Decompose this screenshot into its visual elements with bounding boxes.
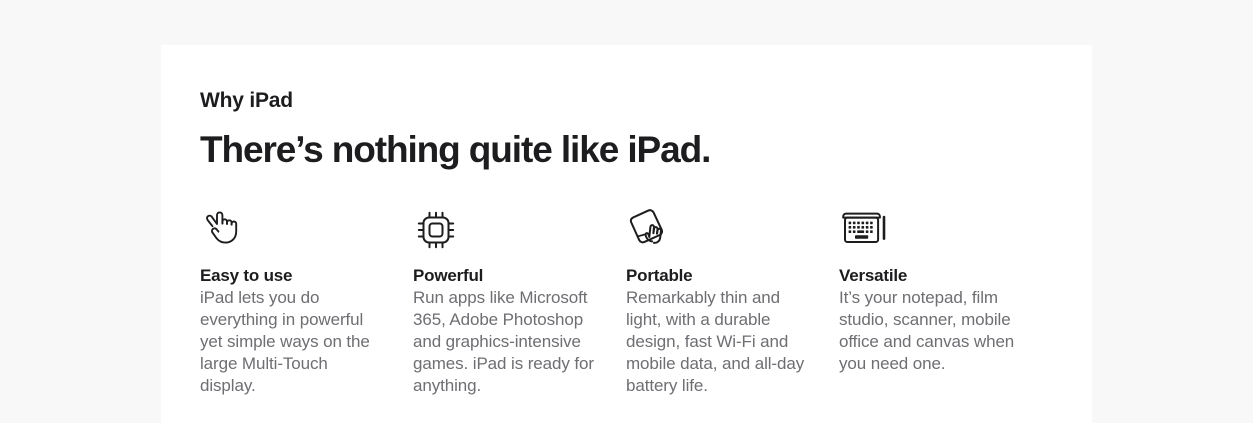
tablet-in-hand-icon	[626, 205, 812, 251]
feature-title: Powerful	[413, 265, 599, 287]
feature-body: Run apps like Microsoft 365, Adobe Photo…	[413, 287, 599, 397]
feature-item-portable: Portable Remarkably thin and light, with…	[626, 205, 839, 397]
feature-title: Easy to use	[200, 265, 386, 287]
feature-body: Remarkably thin and light, with a durabl…	[626, 287, 812, 397]
section-eyebrow: Why iPad	[200, 45, 1053, 114]
feature-body: It’s your notepad, film studio, scanner,…	[839, 287, 1025, 375]
feature-body: iPad lets you do everything in powerful …	[200, 287, 386, 397]
feature-item-easy-to-use: Easy to use iPad lets you do everything …	[200, 205, 413, 397]
touch-hand-icon	[200, 205, 386, 251]
feature-title: Versatile	[839, 265, 1025, 287]
content-card: Why iPad There’s nothing quite like iPad…	[161, 45, 1092, 423]
feature-item-powerful: Powerful Run apps like Microsoft 365, Ad…	[413, 205, 626, 397]
page-title: There’s nothing quite like iPad.	[200, 114, 1053, 172]
processor-chip-icon	[413, 205, 599, 251]
keyboard-stylus-icon	[839, 205, 1025, 251]
feature-item-versatile: Versatile It’s your notepad, film studio…	[839, 205, 1052, 397]
feature-title: Portable	[626, 265, 812, 287]
card-inner: Why iPad There’s nothing quite like iPad…	[200, 45, 1053, 397]
feature-list: Easy to use iPad lets you do everything …	[200, 172, 1053, 397]
page-background: Why iPad There’s nothing quite like iPad…	[0, 0, 1253, 423]
